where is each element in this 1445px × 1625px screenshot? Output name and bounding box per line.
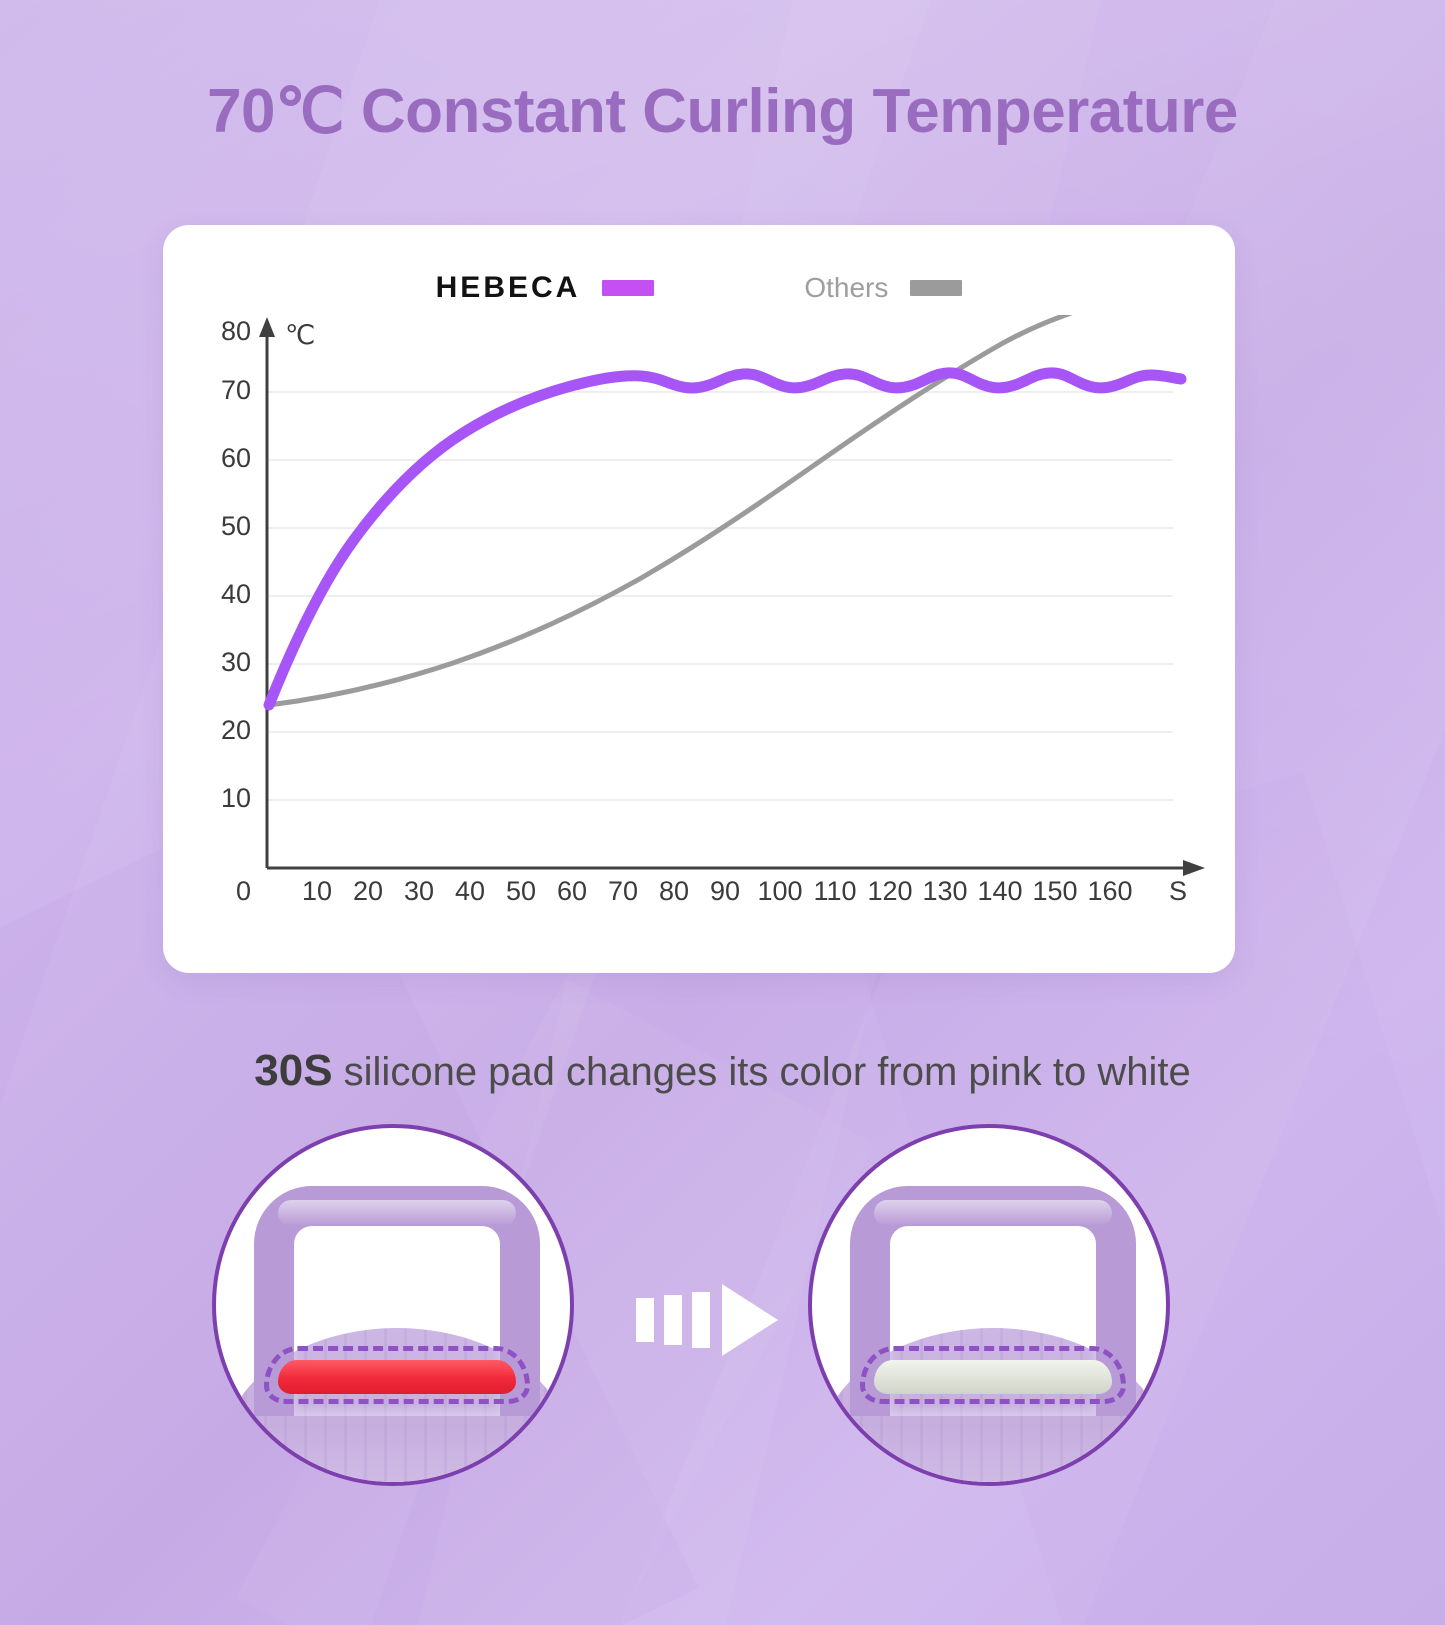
svg-text:120: 120 xyxy=(867,876,912,906)
legend-swatch-others xyxy=(910,280,962,296)
y-axis-unit: ℃ xyxy=(285,320,315,350)
svg-text:10: 10 xyxy=(221,783,251,813)
pad-dashed-outline xyxy=(264,1346,530,1404)
svg-text:100: 100 xyxy=(757,876,802,906)
series-hebeca-line xyxy=(269,373,1181,705)
svg-text:80: 80 xyxy=(221,316,251,346)
svg-text:60: 60 xyxy=(221,443,251,473)
eyelash-curler-white-pad xyxy=(808,1124,1170,1486)
arrow-bar-3 xyxy=(692,1292,710,1348)
svg-text:60: 60 xyxy=(557,876,587,906)
svg-text:10: 10 xyxy=(302,876,332,906)
chart-axes xyxy=(267,333,1188,868)
arrow-tip-icon xyxy=(722,1284,778,1356)
legend-item-hebeca: HEBECA xyxy=(436,271,655,305)
legend-label-hebeca: HEBECA xyxy=(436,271,581,305)
caption-rest: silicone pad changes its color from pink… xyxy=(333,1050,1191,1094)
chart-plot-area: 80 70 60 50 40 30 20 10 0 ℃ 10 20 30 40 xyxy=(163,315,1235,945)
y-axis-arrow xyxy=(259,317,275,337)
caption-line: 30S silicone pad changes its color from … xyxy=(0,1046,1445,1096)
pad-dashed-outline xyxy=(860,1346,1126,1404)
eyelash-curler-pink-pad xyxy=(212,1124,574,1486)
svg-text:70: 70 xyxy=(608,876,638,906)
x-axis-arrow xyxy=(1183,860,1205,876)
svg-text:160: 160 xyxy=(1087,876,1132,906)
svg-text:50: 50 xyxy=(221,511,251,541)
x-axis-labels: 10 20 30 40 50 60 70 80 90 100 110 120 1… xyxy=(302,876,1133,906)
page-title: 70℃ Constant Curling Temperature xyxy=(0,74,1445,147)
curler-arch-highlight xyxy=(278,1200,516,1226)
svg-text:130: 130 xyxy=(922,876,967,906)
svg-text:70: 70 xyxy=(221,375,251,405)
svg-text:90: 90 xyxy=(710,876,740,906)
arrow-bar-1 xyxy=(636,1298,654,1342)
svg-text:50: 50 xyxy=(506,876,536,906)
y-axis-labels: 80 70 60 50 40 30 20 10 0 xyxy=(221,316,251,906)
svg-text:20: 20 xyxy=(353,876,383,906)
svg-text:20: 20 xyxy=(221,715,251,745)
x-axis-unit: S xyxy=(1169,876,1187,906)
svg-text:140: 140 xyxy=(977,876,1022,906)
arrow-bar-2 xyxy=(664,1295,682,1345)
svg-text:0: 0 xyxy=(236,876,251,906)
series-others-line xyxy=(269,315,1098,705)
legend-swatch-hebeca xyxy=(602,280,654,296)
svg-text:110: 110 xyxy=(813,876,856,906)
svg-text:30: 30 xyxy=(221,647,251,677)
svg-text:150: 150 xyxy=(1032,876,1077,906)
caption-bold: 30S xyxy=(254,1046,332,1095)
svg-text:80: 80 xyxy=(659,876,689,906)
chart-legend: HEBECA Others xyxy=(163,271,1235,305)
curler-arch-highlight xyxy=(874,1200,1112,1226)
svg-text:30: 30 xyxy=(404,876,434,906)
legend-label-others: Others xyxy=(804,272,888,304)
page-root: 70℃ Constant Curling Temperature HEBECA … xyxy=(0,0,1445,1625)
chart-gridlines xyxy=(267,392,1173,800)
temperature-chart-card: HEBECA Others xyxy=(163,225,1235,973)
svg-text:40: 40 xyxy=(455,876,485,906)
transition-arrow xyxy=(636,1284,786,1356)
svg-text:40: 40 xyxy=(221,579,251,609)
chart-svg: 80 70 60 50 40 30 20 10 0 ℃ 10 20 30 40 xyxy=(163,315,1235,945)
legend-item-others: Others xyxy=(804,272,962,304)
